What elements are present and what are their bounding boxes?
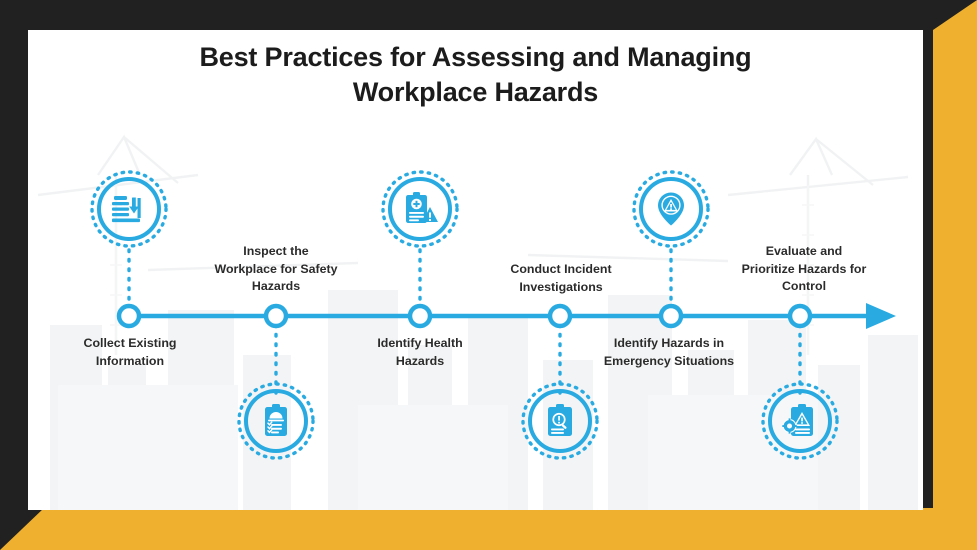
clipboard-warning-gear-icon <box>780 401 820 441</box>
infographic-canvas: Best Practices for Assessing and Managin… <box>28 25 923 510</box>
step-icon-badge-3[interactable] <box>381 170 459 248</box>
step-label-5: Identify Hazards in Emergency Situations <box>578 335 760 370</box>
frame-top-diagonal <box>0 0 977 30</box>
timeline-arrowhead <box>866 303 896 329</box>
step-label-1-line-1: Collect Existing <box>56 335 204 353</box>
step-icon-badge-5[interactable] <box>632 170 710 248</box>
step-icon-badge-6[interactable] <box>761 382 839 460</box>
step-label-4: Conduct Incident Investigations <box>478 261 644 296</box>
step-label-3: Identify Health Hazards <box>346 335 494 370</box>
map-pin-warning-icon <box>651 189 691 229</box>
accent-bar-right <box>933 0 977 550</box>
step-label-4-line-2: Investigations <box>478 279 644 297</box>
step-icon-badge-4[interactable] <box>521 382 599 460</box>
step-label-2-line-2: Workplace for Safety <box>192 261 360 279</box>
clipboard-medical-warning-icon <box>400 189 440 229</box>
step-label-6: Evaluate and Prioritize Hazards for Cont… <box>714 243 894 296</box>
document-stack-download-icon <box>109 189 149 229</box>
slide-root: Best Practices for Assessing and Managin… <box>0 0 977 550</box>
step-label-6-line-2: Prioritize Hazards for <box>714 261 894 279</box>
step-label-6-line-3: Control <box>714 278 894 296</box>
clipboard-hardhat-checklist-icon <box>256 401 296 441</box>
step-label-5-line-1: Identify Hazards in <box>578 335 760 353</box>
step-label-3-line-1: Identify Health <box>346 335 494 353</box>
step-label-1-line-2: Information <box>56 353 204 371</box>
step-label-4-line-1: Conduct Incident <box>478 261 644 279</box>
step-label-2: Inspect the Workplace for Safety Hazards <box>192 243 360 296</box>
step-label-2-line-1: Inspect the <box>192 243 360 261</box>
accent-bar-bottom <box>0 508 977 550</box>
step-icon-badge-1[interactable] <box>90 170 168 248</box>
step-label-6-line-1: Evaluate and <box>714 243 894 261</box>
clipboard-magnifier-alert-icon <box>540 401 580 441</box>
step-label-5-line-2: Emergency Situations <box>578 353 760 371</box>
step-label-3-line-2: Hazards <box>346 353 494 371</box>
step-label-2-line-3: Hazards <box>192 278 360 296</box>
step-label-1: Collect Existing Information <box>56 335 204 370</box>
step-icon-badge-2[interactable] <box>237 382 315 460</box>
